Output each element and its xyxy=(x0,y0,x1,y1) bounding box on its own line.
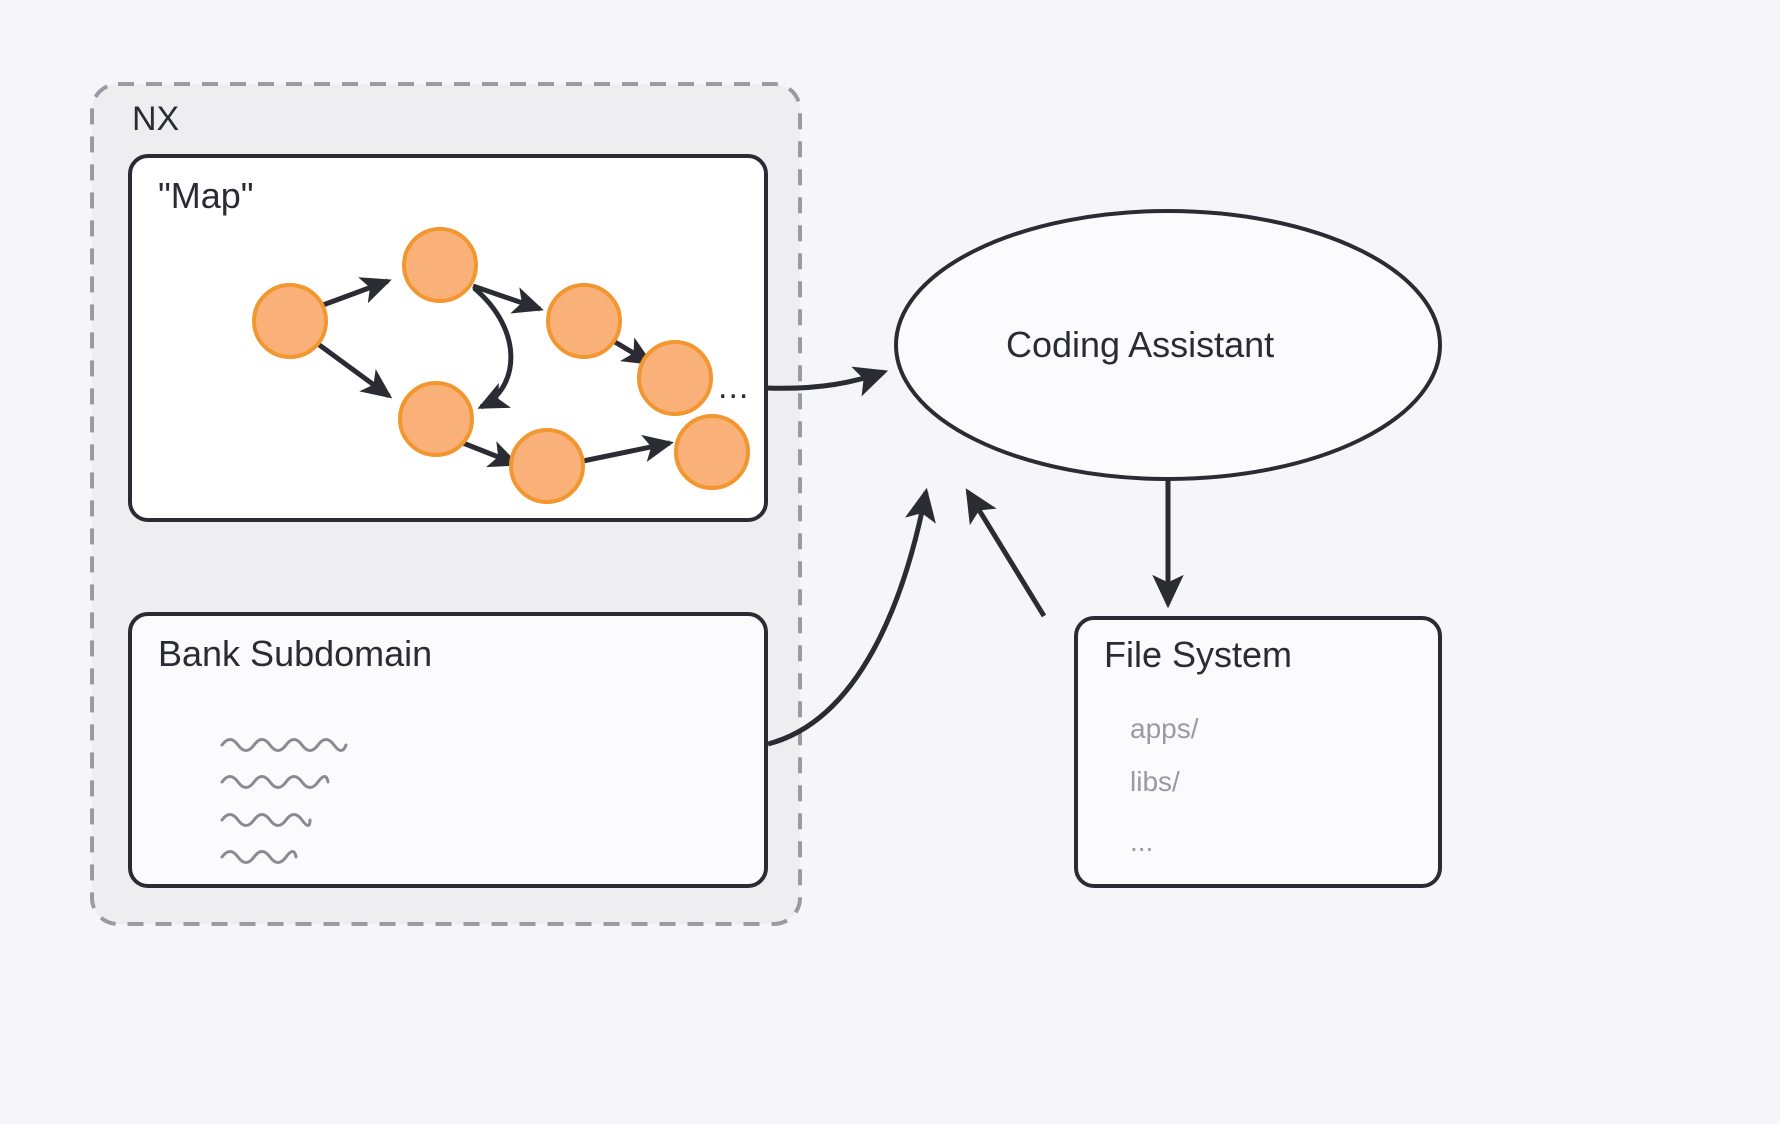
graph-node[interactable] xyxy=(548,285,620,357)
file-system-item: apps/ xyxy=(1130,713,1199,745)
file-system-item: libs/ xyxy=(1130,766,1180,798)
graph-node[interactable] xyxy=(404,229,476,301)
diagram-svg xyxy=(0,0,1780,1124)
graph-node[interactable] xyxy=(676,416,748,488)
map-ellipsis-label: ... xyxy=(718,368,749,407)
connector-filesystem-to-assistant xyxy=(968,492,1044,616)
graph-node[interactable] xyxy=(511,430,583,502)
file-system-item: ... xyxy=(1130,826,1153,858)
graph-node[interactable] xyxy=(254,285,326,357)
diagram-canvas: NX "Map" ... Bank Subdomain Coding Assis… xyxy=(0,0,1780,1124)
graph-node[interactable] xyxy=(639,342,711,414)
bank-subdomain-card[interactable] xyxy=(130,614,766,886)
map-card[interactable] xyxy=(130,156,766,520)
coding-assistant-node[interactable] xyxy=(896,211,1440,479)
graph-node[interactable] xyxy=(400,383,472,455)
